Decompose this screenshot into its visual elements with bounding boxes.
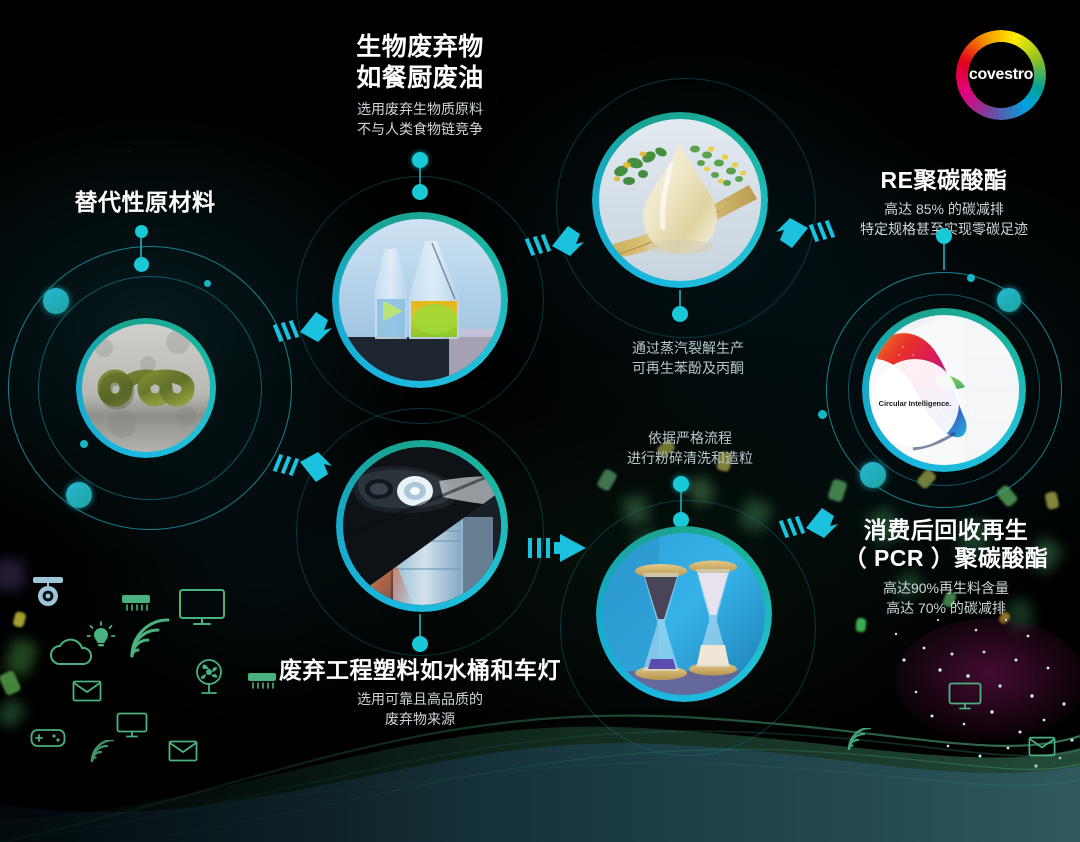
orbit-endpoint-top bbox=[135, 225, 148, 238]
oil-droplet-node bbox=[672, 306, 688, 322]
oil-droplet-note-line1: 通过蒸汽裂解生产 bbox=[598, 338, 778, 358]
re-pc-image-caption: Circular Intelligence. bbox=[879, 399, 952, 408]
logo-wordmark: covestro bbox=[956, 30, 1046, 120]
waste-plastics-sub-line1: 选用可靠且高品质的 bbox=[250, 690, 590, 710]
gamepad-icon bbox=[30, 726, 66, 750]
arrow-feedstock-to-headlight bbox=[266, 444, 336, 496]
arrow-feedstock-to-bottles bbox=[266, 298, 336, 350]
monitor-icon bbox=[116, 712, 148, 738]
covestro-logo: covestro bbox=[956, 30, 1046, 120]
envelope-icon bbox=[72, 680, 102, 702]
re-pc-orbit-node-a bbox=[997, 288, 1021, 312]
bio-waste-title-line2: 如餐厨废油 bbox=[290, 63, 550, 94]
re-pc-minidot-b bbox=[818, 410, 827, 419]
pcr-pc-sub-line1: 高达90%再生料含量 bbox=[812, 579, 1080, 599]
arrow-hourglass-to-pcr bbox=[772, 494, 842, 546]
pcr-pc-sub-line2: 高达 70% 的碳减排 bbox=[812, 599, 1080, 619]
arrow-bottles-to-droplet bbox=[518, 212, 588, 264]
waste-plastics-title: 废弃工程塑料如水桶和车灯 bbox=[250, 656, 590, 684]
recycling-note-line1: 依据严格流程 bbox=[598, 428, 782, 448]
bio-waste-sub-line1: 选用废弃生物质原料 bbox=[290, 100, 550, 120]
orbit-minidot-a bbox=[80, 440, 88, 448]
waste-plastics-sub-line2: 废弃物来源 bbox=[250, 710, 590, 730]
pcr-pc-title-line1: 消费后回收再生 bbox=[812, 516, 1080, 544]
re-pc-node-top bbox=[936, 228, 952, 244]
wifi-icon bbox=[845, 728, 871, 752]
image-alt-feedstock bbox=[76, 318, 216, 458]
image-re-pc: Circular Intelligence. bbox=[862, 308, 1026, 472]
arrow-droplet-to-repc bbox=[772, 212, 842, 264]
image-oil-droplet bbox=[592, 112, 768, 288]
re-pc-minidot-a bbox=[967, 274, 975, 282]
pcr-pc-title-line2: （ PCR ）聚碳酸酯 bbox=[812, 544, 1080, 572]
orbit-node-left-lower bbox=[66, 482, 92, 508]
image-recycling-process bbox=[596, 526, 772, 702]
wifi-icon bbox=[126, 618, 172, 660]
alt-feedstock-title-block: 替代性原材料 bbox=[0, 188, 290, 216]
recycling-node-upper bbox=[673, 476, 689, 492]
oil-droplet-note-line2: 可再生苯酚及丙酮 bbox=[598, 358, 778, 378]
wifi-icon bbox=[88, 740, 114, 764]
bio-waste-node bbox=[412, 152, 428, 168]
bio-waste-title-line1: 生物废弃物 bbox=[290, 32, 550, 63]
re-pc-orbit-node-b bbox=[860, 462, 886, 488]
waste-plastics-node bbox=[412, 636, 428, 652]
cloud-icon bbox=[46, 636, 100, 670]
envelope-icon bbox=[168, 740, 198, 762]
security-camera-icon bbox=[30, 574, 66, 608]
image-waste-plastics bbox=[336, 440, 508, 612]
air-conditioner-icon bbox=[120, 592, 152, 616]
image-bio-waste bbox=[332, 212, 508, 388]
re-pc-sub-line1: 高达 85% 的碳减排 bbox=[808, 200, 1080, 220]
air-conditioner-icon bbox=[246, 670, 278, 694]
monitor-icon bbox=[178, 588, 226, 626]
recycling-note-line2: 进行粉碎清洗和造粒 bbox=[598, 448, 782, 468]
orbit-minidot-b bbox=[204, 280, 211, 287]
orbit-node-left-upper bbox=[43, 288, 69, 314]
envelope-icon bbox=[1028, 736, 1056, 757]
arrow-headlight-to-hourglass bbox=[524, 528, 594, 568]
monitor-icon bbox=[948, 682, 982, 710]
fan-icon bbox=[192, 658, 226, 696]
bio-waste-sub-line2: 不与人类食物链竞争 bbox=[290, 120, 550, 140]
re-pc-title: RE聚碳酸酯 bbox=[808, 166, 1080, 194]
infographic-canvas: 替代性原材料 生物废弃物 如餐厨废油 选用废弃生物质原料 不与人类食物链竞争 bbox=[0, 0, 1080, 842]
re-pc-connector bbox=[943, 244, 945, 270]
alt-feedstock-title: 替代性原材料 bbox=[0, 188, 290, 216]
